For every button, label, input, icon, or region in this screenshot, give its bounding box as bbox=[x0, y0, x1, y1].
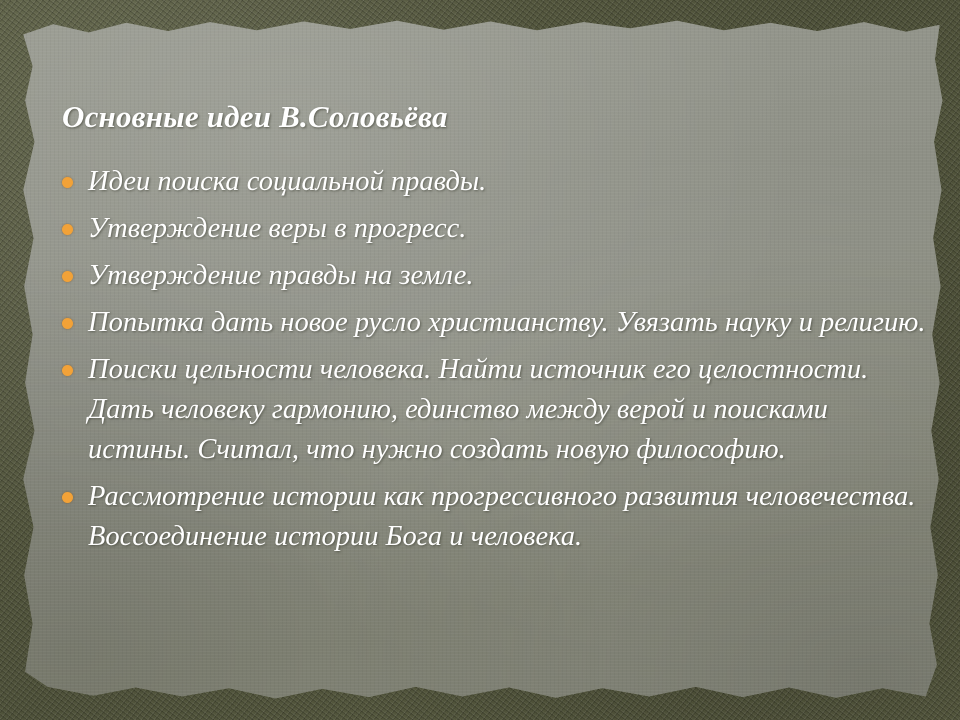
list-item: Рассмотрение истории как прогрессивного … bbox=[54, 477, 930, 557]
orange-dot-bullet-icon bbox=[62, 318, 73, 329]
orange-dot-bullet-icon bbox=[62, 271, 73, 282]
list-item: Утверждение веры в прогресс. bbox=[54, 209, 930, 249]
list-item-label: Рассмотрение истории как прогрессивного … bbox=[88, 477, 930, 557]
list-item-label: Утверждение веры в прогресс. bbox=[88, 209, 930, 249]
bullet-list: Идеи поиска социальной правды. Утвержден… bbox=[54, 162, 930, 564]
list-item-label: Попытка дать новое русло христианству. У… bbox=[88, 303, 930, 343]
orange-dot-bullet-icon bbox=[62, 224, 73, 235]
list-item-label: Утверждение правды на земле. bbox=[88, 256, 930, 296]
orange-dot-bullet-icon bbox=[62, 365, 73, 376]
list-item: Утверждение правды на земле. bbox=[54, 256, 930, 296]
orange-dot-bullet-icon bbox=[62, 492, 73, 503]
list-item: Попытка дать новое русло христианству. У… bbox=[54, 303, 930, 343]
slide-content: Основные идеи В.Соловьёва Идеи поиска со… bbox=[0, 0, 960, 720]
list-item: Поиски цельности человека. Найти источни… bbox=[54, 350, 930, 470]
list-item: Идеи поиска социальной правды. bbox=[54, 162, 930, 202]
list-item-label: Поиски цельности человека. Найти источни… bbox=[88, 350, 930, 470]
orange-dot-bullet-icon bbox=[62, 177, 73, 188]
list-item-label: Идеи поиска социальной правды. bbox=[88, 162, 930, 202]
slide-title: Основные идеи В.Соловьёва bbox=[62, 98, 902, 136]
slide-canvas: Основные идеи В.Соловьёва Идеи поиска со… bbox=[0, 0, 960, 720]
